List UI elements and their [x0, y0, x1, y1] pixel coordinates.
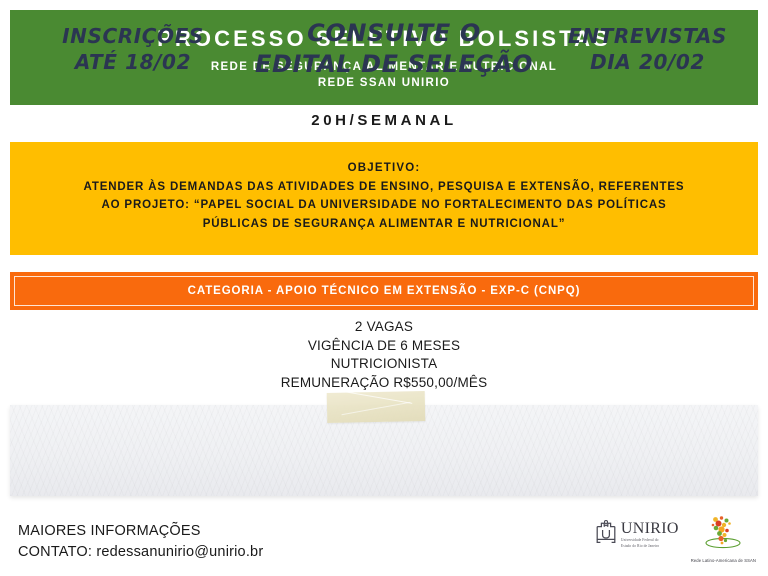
objective-banner: OBJETIVO: ATENDER ÀS DEMANDAS DAS ATIVID…	[10, 142, 758, 255]
unirio-crown-icon	[594, 519, 618, 550]
detail-line-cargo: NUTRICIONISTA	[0, 355, 768, 374]
ssan-network-logo: Rede Latino-Americana de SSAN	[691, 514, 756, 563]
objective-label: OBJETIVO:	[348, 162, 421, 174]
category-banner: CATEGORIA - APOIO TÉCNICO EM EXTENSÃO - …	[10, 272, 758, 310]
interviews-date: DIA 20/02	[560, 50, 735, 76]
unirio-logo: UNIRIO Universidade Federal do Estado do…	[594, 514, 679, 550]
consult-notice-line-1: CONSULTE O	[249, 18, 539, 49]
latin-america-map-icon	[701, 514, 745, 557]
weekly-hours-label: 20H/SEMANAL	[0, 112, 768, 129]
consult-notice-block: CONSULTE O EDITAL DE SELEÇÃO	[249, 18, 539, 80]
detail-line-remuneracao: REMUNERAÇÃO R$550,00/MÊS	[0, 374, 768, 393]
flyer-poster: PROCESSO SELETIVO BOLSISTAS REDE DE SEGU…	[0, 0, 768, 576]
unirio-name: UNIRIO	[621, 521, 679, 537]
detail-line-vigencia: VIGÊNCIA DE 6 MESES	[0, 337, 768, 356]
footer-logos: UNIRIO Universidade Federal do Estado do…	[594, 514, 756, 563]
objective-text: ATENDER ÀS DEMANDAS DAS ATIVIDADES DE EN…	[74, 178, 694, 234]
interviews-block: ENTREVISTAS DIA 20/02	[560, 24, 735, 75]
ssan-caption: Rede Latino-Americana de SSAN	[691, 558, 756, 563]
detail-line-vagas: 2 VAGAS	[0, 318, 768, 337]
category-banner-inner-border: CATEGORIA - APOIO TÉCNICO EM EXTENSÃO - …	[14, 276, 754, 306]
registration-deadline: ATÉ 18/02	[38, 50, 228, 76]
contact-email-line[interactable]: CONTATO: redessanunirio@unirio.br	[18, 542, 263, 563]
unirio-tagline-line-2: Estado do Rio de Janeiro	[621, 544, 679, 549]
registration-label: INSCRIÇÕES	[38, 24, 228, 50]
vacancy-details-list: 2 VAGAS VIGÊNCIA DE 6 MESES NUTRICIONIST…	[0, 318, 768, 393]
consult-notice-line-2: EDITAL DE SELEÇÃO	[249, 49, 539, 80]
unirio-tagline-line-1: Universidade Federal do	[621, 538, 679, 543]
registration-dates-block: INSCRIÇÕES ATÉ 18/02	[38, 24, 228, 75]
more-info-label: MAIORES INFORMAÇÕES	[18, 521, 263, 542]
category-text: CATEGORIA - APOIO TÉCNICO EM EXTENSÃO - …	[188, 285, 581, 297]
footer-contact-block: MAIORES INFORMAÇÕES CONTATO: redessanuni…	[18, 521, 263, 564]
unirio-wordmark: UNIRIO Universidade Federal do Estado do…	[621, 521, 679, 549]
interviews-label: ENTREVISTAS	[560, 24, 735, 50]
tape-strip-icon	[327, 391, 426, 423]
